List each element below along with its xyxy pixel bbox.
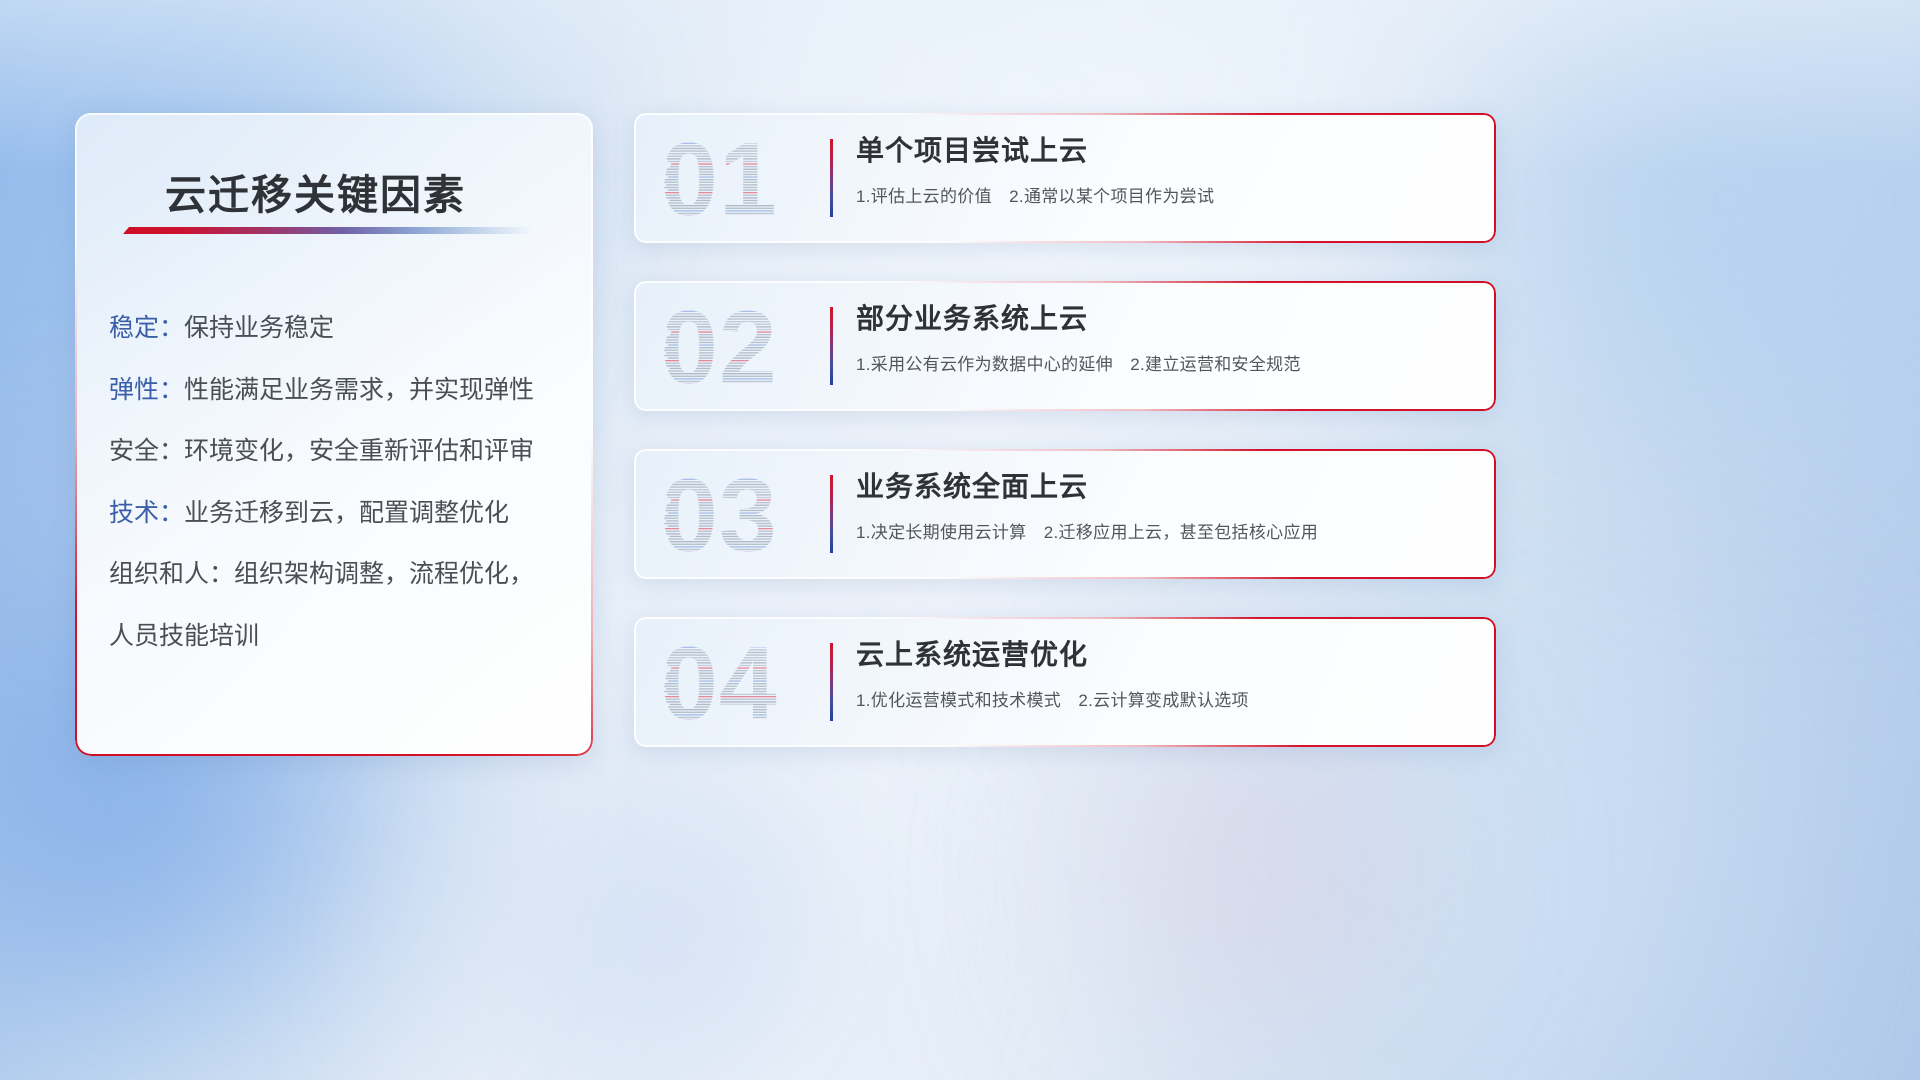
stage-divider-bar — [830, 643, 833, 721]
stage-subtitle: 1.采用公有云作为数据中心的延伸 2.建立运营和安全规范 — [856, 350, 1476, 375]
key-factor-row: 人员技能培训 — [109, 619, 579, 655]
key-factor-line: 技术：业务迁移到云，配置调整优化 — [109, 499, 509, 527]
key-factor-text: 组织架构调整，流程优化， — [234, 560, 534, 588]
panel-title: 云迁移关键因素 — [165, 161, 466, 221]
key-factor-line: 安全：环境变化，安全重新评估和评审 — [109, 437, 534, 465]
migration-stage-card[interactable]: 02部分业务系统上云1.采用公有云作为数据中心的延伸 2.建立运营和安全规范 — [634, 281, 1496, 411]
key-factor-row: 技术：业务迁移到云，配置调整优化 — [109, 496, 579, 532]
key-factor-text: 性能满足业务需求，并实现弹性 — [184, 376, 534, 404]
stage-body: 云上系统运营优化1.优化运营模式和技术模式 2.云计算变成默认选项 — [856, 637, 1476, 711]
key-factor-line: 组织和人：组织架构调整，流程优化， — [109, 560, 534, 588]
key-factor-text: 环境变化，安全重新评估和评审 — [184, 437, 534, 465]
migration-stage-card[interactable]: 01单个项目尝试上云1.评估上云的价值 2.通常以某个项目作为尝试 — [634, 113, 1496, 243]
stage-subtitle: 1.决定长期使用云计算 2.迁移应用上云，甚至包括核心应用 — [856, 518, 1476, 543]
title-underline-rule — [123, 227, 533, 234]
key-factor-row: 稳定：保持业务稳定 — [109, 311, 579, 347]
key-factor-text: 人员技能培训 — [109, 622, 259, 650]
stage-body: 单个项目尝试上云1.评估上云的价值 2.通常以某个项目作为尝试 — [856, 133, 1476, 207]
stage-body: 部分业务系统上云1.采用公有云作为数据中心的延伸 2.建立运营和安全规范 — [856, 301, 1476, 375]
stage-title: 部分业务系统上云 — [856, 301, 1476, 336]
key-factor-row: 弹性：性能满足业务需求，并实现弹性 — [109, 373, 579, 409]
stage-divider-bar — [830, 307, 833, 385]
stage-number-02: 02 — [656, 291, 806, 403]
key-factors-list: 稳定：保持业务稳定弹性：性能满足业务需求，并实现弹性安全：环境变化，安全重新评估… — [109, 311, 579, 654]
key-factor-line: 弹性：性能满足业务需求，并实现弹性 — [109, 376, 534, 404]
key-factor-row: 组织和人：组织架构调整，流程优化， — [109, 557, 579, 593]
stage-number-03: 03 — [656, 459, 806, 571]
key-factor-label: 弹性： — [109, 376, 184, 404]
stage-number-01: 01 — [656, 123, 806, 235]
stage-body: 业务系统全面上云1.决定长期使用云计算 2.迁移应用上云，甚至包括核心应用 — [856, 469, 1476, 543]
stage-divider-bar — [830, 139, 833, 217]
key-factor-text: 业务迁移到云，配置调整优化 — [184, 499, 509, 527]
stage-number-04: 04 — [656, 627, 806, 739]
key-factor-line: 人员技能培训 — [109, 622, 259, 650]
migration-stages-list: 01单个项目尝试上云1.评估上云的价值 2.通常以某个项目作为尝试02部分业务系… — [634, 113, 1496, 747]
stage-title: 云上系统运营优化 — [856, 637, 1476, 672]
stage-divider-bar — [830, 475, 833, 553]
key-factor-label: 组织和人： — [109, 560, 234, 588]
key-factor-label: 稳定： — [109, 314, 184, 342]
key-factor-text: 保持业务稳定 — [184, 314, 334, 342]
key-factors-panel: 云迁移关键因素 稳定：保持业务稳定弹性：性能满足业务需求，并实现弹性安全：环境变… — [75, 113, 593, 756]
migration-stage-card[interactable]: 04云上系统运营优化1.优化运营模式和技术模式 2.云计算变成默认选项 — [634, 617, 1496, 747]
migration-stage-card[interactable]: 03业务系统全面上云1.决定长期使用云计算 2.迁移应用上云，甚至包括核心应用 — [634, 449, 1496, 579]
key-factor-row: 安全：环境变化，安全重新评估和评审 — [109, 434, 579, 470]
stage-subtitle: 1.优化运营模式和技术模式 2.云计算变成默认选项 — [856, 686, 1476, 711]
key-factor-line: 稳定：保持业务稳定 — [109, 314, 334, 342]
key-factor-label: 技术： — [109, 499, 184, 527]
stage-title: 单个项目尝试上云 — [856, 133, 1476, 168]
stage-title: 业务系统全面上云 — [856, 469, 1476, 504]
key-factor-label: 安全： — [109, 437, 184, 465]
stage-subtitle: 1.评估上云的价值 2.通常以某个项目作为尝试 — [856, 182, 1476, 207]
